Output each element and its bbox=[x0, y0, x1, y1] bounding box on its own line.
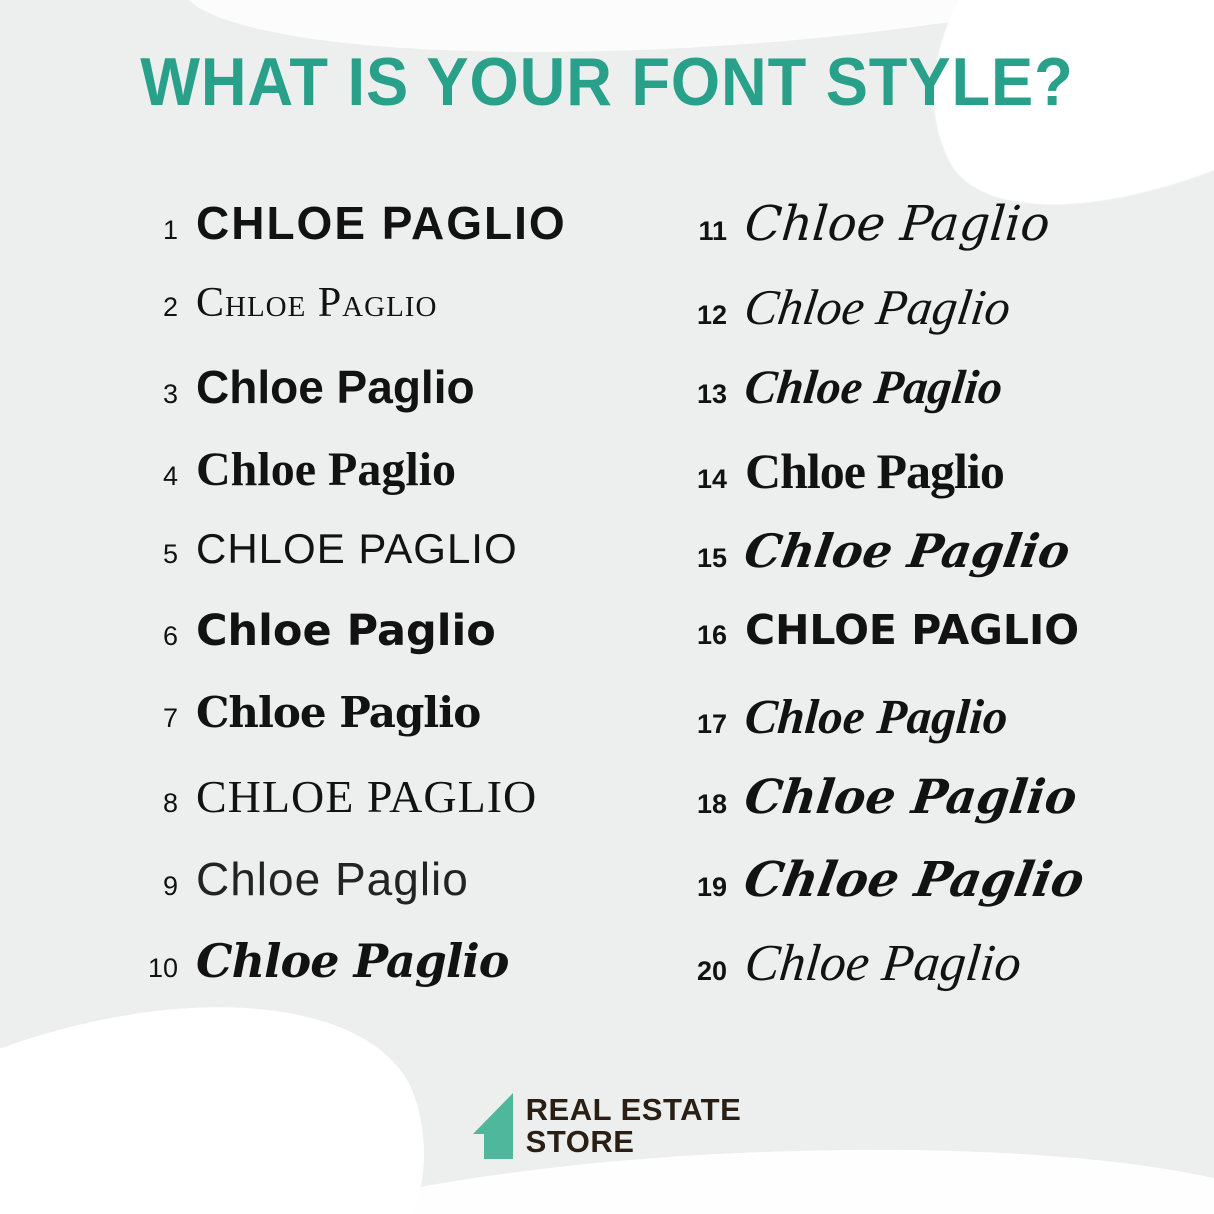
font-sample-text: Chloe Paglio bbox=[196, 692, 480, 734]
font-sample-number: 20 bbox=[679, 958, 727, 985]
font-sample-list: 1 CHLOE PAGLIO 2 Chloe Paglio 3 Chloe Pa… bbox=[0, 200, 1214, 1030]
font-sample-number: 19 bbox=[679, 874, 727, 901]
font-sample-row[interactable]: 10 Chloe Paglio bbox=[0, 938, 607, 1020]
font-sample-row[interactable]: 13 Chloe Paglio bbox=[607, 364, 1214, 446]
poster-canvas: WHAT IS YOUR FONT STYLE? 1 CHLOE PAGLIO … bbox=[0, 0, 1214, 1214]
font-sample-row[interactable]: 17 Chloe Paglio bbox=[607, 692, 1214, 774]
font-sample-text: Chloe Paglio bbox=[196, 856, 469, 902]
font-sample-text: Chloe Paglio bbox=[742, 364, 1004, 412]
font-sample-number: 8 bbox=[132, 790, 178, 817]
font-sample-text: Chloe Paglio bbox=[196, 282, 437, 324]
font-sample-row[interactable]: 4 Chloe Paglio bbox=[0, 446, 607, 528]
font-sample-row[interactable]: 11 Chloe Paglio bbox=[607, 200, 1214, 282]
font-sample-text: Chloe Paglio bbox=[745, 446, 1004, 496]
font-sample-text: Chloe Paglio bbox=[742, 774, 1079, 821]
font-sample-row[interactable]: 20 Chloe Paglio bbox=[607, 938, 1214, 1020]
font-sample-text: CHLOE PAGLIO bbox=[745, 610, 1079, 651]
font-sample-text: Chloe Paglio bbox=[741, 282, 1013, 332]
font-sample-number: 17 bbox=[679, 711, 727, 738]
font-sample-number: 7 bbox=[132, 705, 178, 732]
font-sample-text: CHLOE PAGLIO bbox=[196, 528, 518, 570]
page-title: WHAT IS YOUR FONT STYLE? bbox=[42, 48, 1171, 116]
font-sample-row[interactable]: 15 Chloe Paglio bbox=[607, 528, 1214, 610]
font-sample-row[interactable]: 1 CHLOE PAGLIO bbox=[0, 200, 607, 282]
font-sample-column-right: 11 Chloe Paglio 12 Chloe Paglio 13 Chloe… bbox=[607, 200, 1214, 1030]
font-sample-row[interactable]: 7 Chloe Paglio bbox=[0, 692, 607, 774]
font-sample-number: 12 bbox=[679, 302, 727, 329]
font-sample-number: 5 bbox=[132, 541, 178, 568]
font-sample-number: 15 bbox=[679, 545, 727, 572]
font-sample-number: 6 bbox=[132, 623, 178, 650]
font-sample-row[interactable]: 19 Chloe Paglio bbox=[607, 856, 1214, 938]
font-sample-text: Chloe Paglio bbox=[196, 446, 456, 494]
font-sample-row[interactable]: 5 CHLOE PAGLIO bbox=[0, 528, 607, 610]
font-sample-number: 16 bbox=[679, 622, 727, 649]
brand-name-line-2: STORE bbox=[526, 1126, 742, 1158]
font-sample-row[interactable]: 14 Chloe Paglio bbox=[607, 446, 1214, 528]
font-sample-number: 4 bbox=[132, 463, 178, 490]
font-sample-row[interactable]: 9 Chloe Paglio bbox=[0, 856, 607, 938]
font-sample-number: 10 bbox=[132, 955, 178, 982]
font-sample-text: Chloe Paglio bbox=[196, 364, 475, 410]
font-sample-row[interactable]: 8 CHLOE PAGLIO bbox=[0, 774, 607, 856]
font-sample-number: 3 bbox=[132, 381, 178, 408]
font-sample-text: Chloe Paglio bbox=[743, 200, 1052, 248]
font-sample-text: Chloe Paglio bbox=[743, 692, 1009, 741]
font-sample-row[interactable]: 16 CHLOE PAGLIO bbox=[607, 610, 1214, 692]
font-sample-row[interactable]: 3 Chloe Paglio bbox=[0, 364, 607, 446]
font-sample-text: Chloe Paglio bbox=[742, 938, 1023, 990]
font-sample-text: CHLOE PAGLIO bbox=[196, 200, 567, 246]
brand-logo-inner: REAL ESTATE STORE bbox=[473, 1093, 742, 1159]
font-sample-text: Chloe Paglio bbox=[741, 856, 1088, 904]
brand-logo[interactable]: REAL ESTATE STORE bbox=[0, 1093, 1214, 1159]
font-sample-number: 13 bbox=[679, 381, 727, 408]
font-sample-number: 18 bbox=[679, 791, 727, 818]
font-sample-row[interactable]: 2 Chloe Paglio bbox=[0, 282, 607, 364]
font-sample-column-left: 1 CHLOE PAGLIO 2 Chloe Paglio 3 Chloe Pa… bbox=[0, 200, 607, 1030]
font-sample-number: 2 bbox=[132, 294, 178, 321]
font-sample-number: 14 bbox=[679, 466, 727, 493]
font-sample-number: 11 bbox=[679, 218, 727, 245]
font-sample-text: Chloe Paglio bbox=[196, 610, 496, 653]
font-sample-number: 1 bbox=[132, 217, 178, 244]
font-sample-row[interactable]: 18 Chloe Paglio bbox=[607, 774, 1214, 856]
brand-name-line-1: REAL ESTATE bbox=[526, 1094, 742, 1126]
house-icon bbox=[473, 1093, 513, 1159]
brand-logo-text: REAL ESTATE STORE bbox=[526, 1094, 742, 1157]
font-sample-text: Chloe Paglio bbox=[196, 938, 508, 984]
font-sample-row[interactable]: 6 Chloe Paglio bbox=[0, 610, 607, 692]
font-sample-text: Chloe Paglio bbox=[741, 528, 1073, 574]
font-sample-row[interactable]: 12 Chloe Paglio bbox=[607, 282, 1214, 364]
font-sample-number: 9 bbox=[132, 873, 178, 900]
font-sample-text: CHLOE PAGLIO bbox=[196, 774, 537, 820]
